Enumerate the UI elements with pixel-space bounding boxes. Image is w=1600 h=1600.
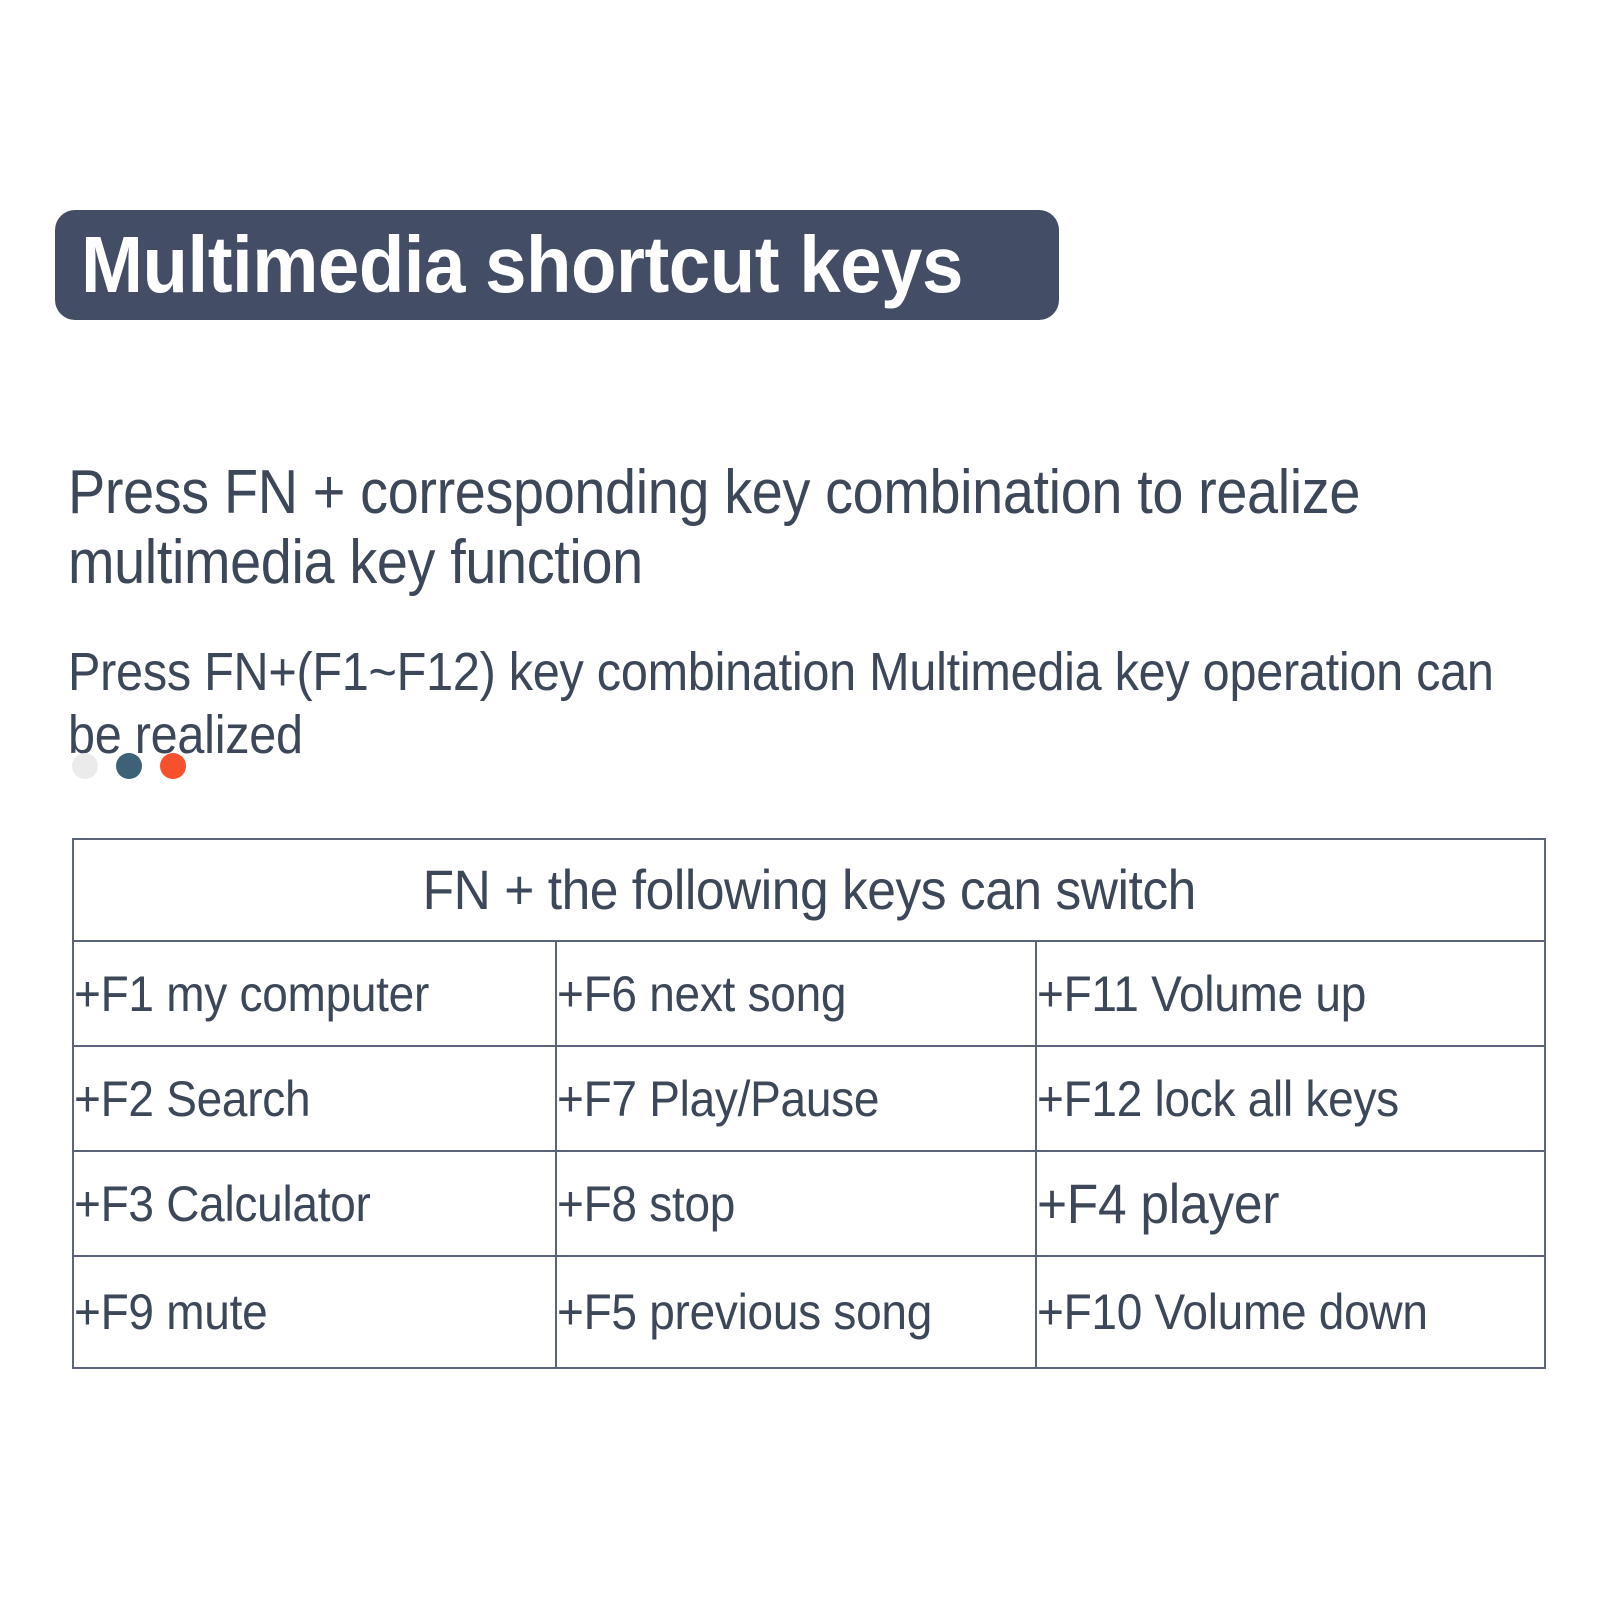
intro-secondary-text: Press FN+(F1~F12) key combination Multim…: [68, 578, 1600, 830]
table-cell-f12: +F12 lock all keys: [1036, 1046, 1545, 1151]
table-row: +F1 my computer +F6 next song +F11 Volum…: [73, 941, 1545, 1046]
dot-orange-icon: [160, 753, 186, 779]
table-cell-f9: +F9 mute: [73, 1256, 556, 1368]
table-cell-f1: +F1 my computer: [73, 941, 556, 1046]
intro-primary-label: Press FN + corresponding key combination…: [68, 458, 1526, 598]
table-header-cell: FN + the following keys can switch: [73, 839, 1545, 941]
table-cell-label: +F2 Search: [74, 1073, 310, 1125]
page-title-badge: Multimedia shortcut keys: [55, 210, 1059, 320]
table-cell-label: +F3 Calculator: [74, 1178, 371, 1230]
table-cell-label: +F1 my computer: [74, 968, 429, 1020]
table-row: +F2 Search +F7 Play/Pause +F12 lock all …: [73, 1046, 1545, 1151]
table-cell-f3: +F3 Calculator: [73, 1151, 556, 1256]
table-cell-f6: +F6 next song: [556, 941, 1036, 1046]
table-cell-f5: +F5 previous song: [556, 1256, 1036, 1368]
table-header-label: FN + the following keys can switch: [422, 861, 1195, 919]
table-cell-f10: +F10 Volume down: [1036, 1256, 1545, 1368]
table-cell-label: +F11 Volume up: [1037, 968, 1366, 1020]
table-row: +F3 Calculator +F8 stop +F4 player: [73, 1151, 1545, 1256]
table-cell-label: +F9 mute: [74, 1286, 267, 1338]
table-row: +F9 mute +F5 previous song +F10 Volume d…: [73, 1256, 1545, 1368]
dot-inactive-icon: [72, 753, 98, 779]
shortcut-key-table: FN + the following keys can switch +F1 m…: [72, 838, 1546, 1369]
table-header-row: FN + the following keys can switch: [73, 839, 1545, 941]
dot-teal-icon: [116, 753, 142, 779]
dot-indicator-group: [72, 753, 186, 779]
table-cell-f2: +F2 Search: [73, 1046, 556, 1151]
table-cell-f7: +F7 Play/Pause: [556, 1046, 1036, 1151]
table-cell-label: +F10 Volume down: [1037, 1286, 1428, 1338]
table-cell-label: +F5 previous song: [557, 1286, 932, 1338]
table-cell-label: +F7 Play/Pause: [557, 1073, 879, 1125]
table-cell-f8: +F8 stop: [556, 1151, 1036, 1256]
page-title: Multimedia shortcut keys: [81, 225, 963, 305]
table-cell-label: +F8 stop: [557, 1178, 735, 1230]
table-cell-label: +F12 lock all keys: [1037, 1073, 1399, 1125]
intro-secondary-label: Press FN+(F1~F12) key combination Multim…: [68, 641, 1526, 767]
table-cell-f4: +F4 player: [1036, 1151, 1545, 1256]
table-cell-label: +F6 next song: [557, 968, 846, 1020]
page-root: Multimedia shortcut keys Press FN + corr…: [0, 0, 1600, 1600]
table-cell-f11: +F11 Volume up: [1036, 941, 1545, 1046]
table-cell-label: +F4 player: [1037, 1178, 1279, 1230]
